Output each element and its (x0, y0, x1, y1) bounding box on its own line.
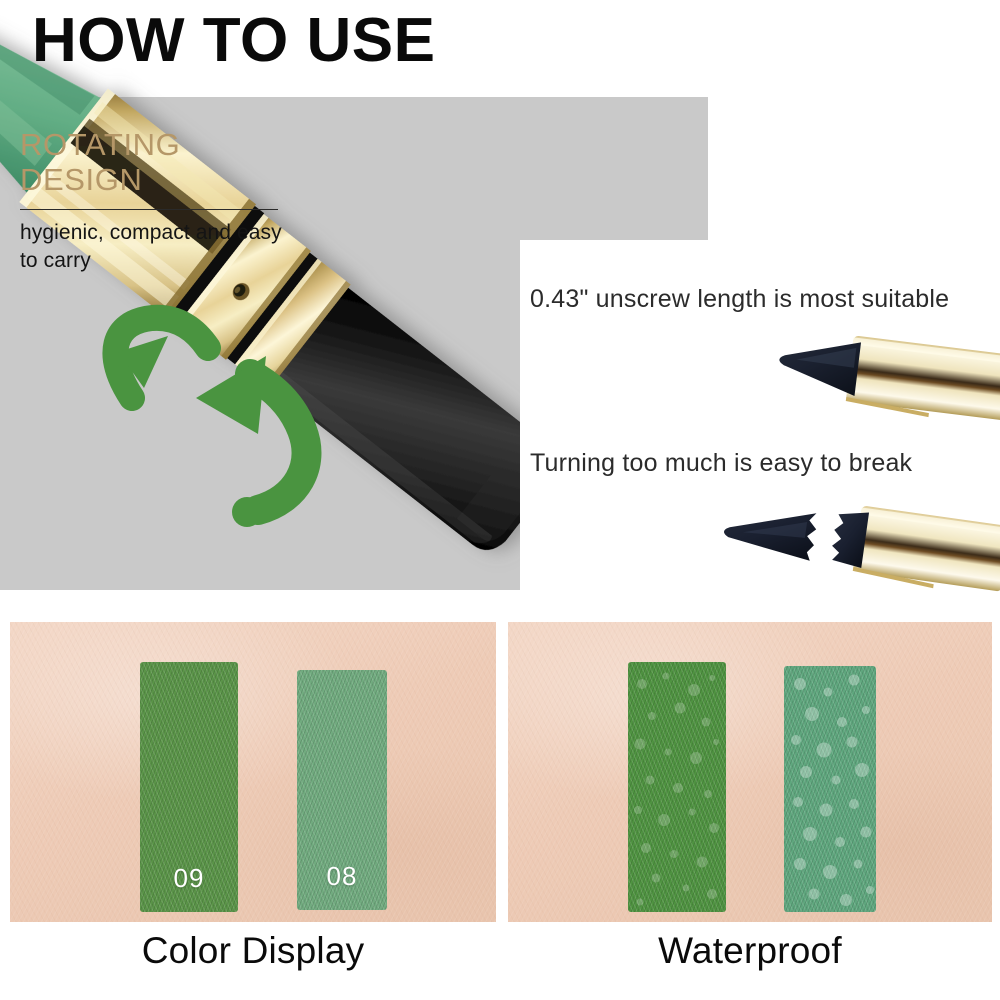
infographic-page: HOW TO USE ROTATING DESIGN hygienic, com… (0, 0, 1000, 1000)
swatch-09: 09 (140, 662, 238, 912)
swatch-08: 08 (297, 670, 387, 910)
swatch-waterproof-light (784, 666, 876, 912)
page-title: HOW TO USE (32, 8, 435, 73)
color-display-caption: Color Display (10, 930, 496, 972)
water-droplets-icon (628, 662, 726, 912)
tip-unscrew-length-text: 0.43" unscrew length is most suitable (530, 283, 949, 317)
skin-background (10, 622, 496, 922)
swatch-09-label: 09 (140, 863, 238, 894)
swatch-waterproof-dark (628, 662, 726, 912)
tip-turning-too-much-text: Turning too much is easy to break (530, 447, 912, 481)
rotating-design-heading-line1: ROTATING (20, 128, 290, 163)
water-droplets-icon-2 (784, 666, 876, 912)
rotating-design-subtext: hygienic, compact and easy to carry (20, 219, 290, 274)
broken-pencil-illustration (705, 495, 1000, 620)
skin-background-wet (508, 622, 992, 922)
intact-pencil-illustration (760, 325, 1000, 450)
waterproof-caption: Waterproof (508, 930, 992, 972)
rotating-design-heading: ROTATING DESIGN (20, 128, 290, 197)
rotating-design-divider (20, 209, 278, 210)
color-display-panel: 09 08 (10, 622, 496, 922)
rotating-design-block: ROTATING DESIGN hygienic, compact and ea… (20, 128, 290, 274)
rotating-design-heading-line2: DESIGN (20, 163, 290, 198)
waterproof-panel (508, 622, 992, 922)
hero-panel-lower (0, 240, 520, 590)
swatch-08-label: 08 (297, 861, 387, 892)
